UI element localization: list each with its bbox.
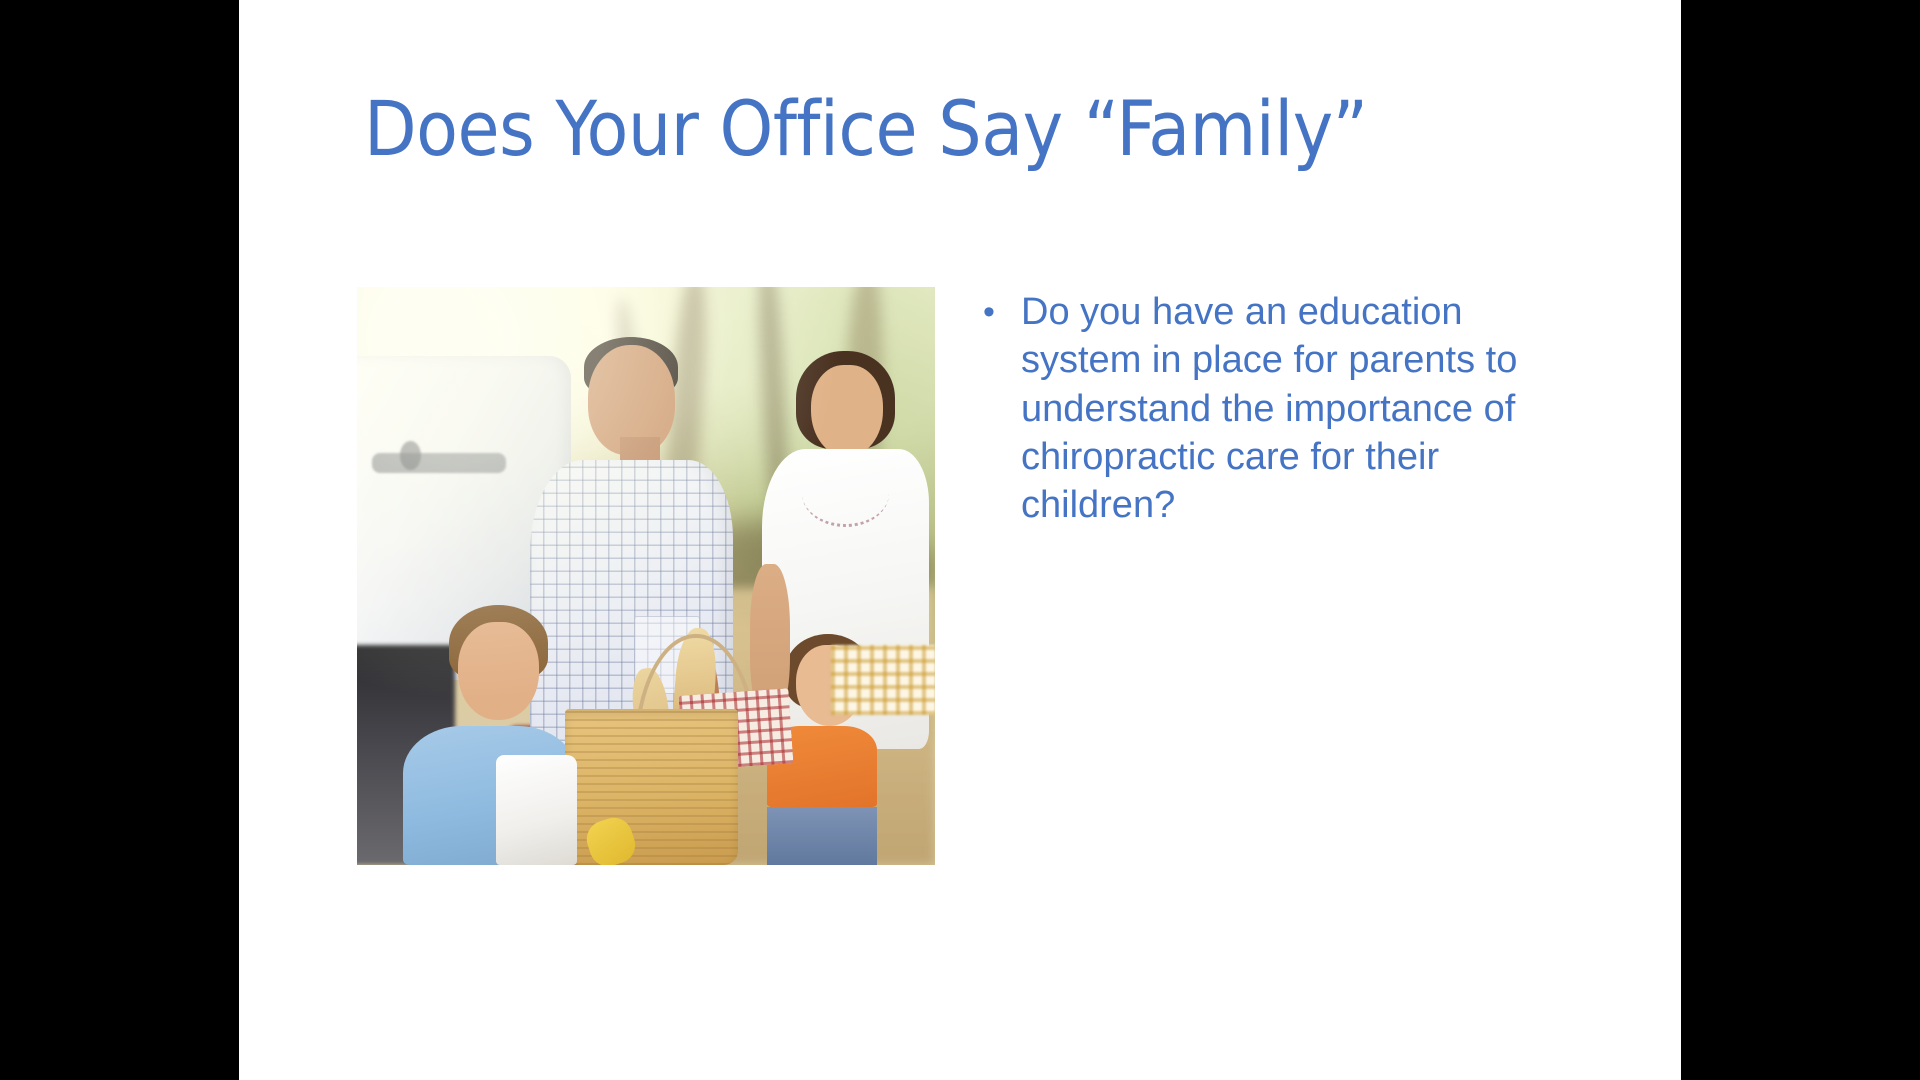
slide-canvas: Does Your Office Say “Family” bbox=[239, 0, 1681, 1080]
letterbox-right bbox=[1681, 0, 1920, 1080]
bullet-icon: • bbox=[979, 288, 1021, 336]
slide-viewport: Does Your Office Say “Family” bbox=[0, 0, 1920, 1080]
body-text-block: • Do you have an education system in pla… bbox=[979, 288, 1579, 529]
mother-neckline bbox=[802, 460, 889, 527]
page-title: Does Your Office Say “Family” bbox=[364, 86, 1564, 171]
photo-background bbox=[357, 287, 935, 865]
boy-head bbox=[458, 622, 539, 720]
list-item: • Do you have an education system in pla… bbox=[979, 288, 1579, 529]
white-bag bbox=[496, 755, 577, 865]
bullet-text: Do you have an education system in place… bbox=[1021, 288, 1579, 529]
girl-jeans bbox=[767, 807, 877, 865]
tablecloth bbox=[831, 645, 935, 714]
mother-head bbox=[811, 365, 883, 457]
letterbox-left bbox=[0, 0, 239, 1080]
family-photo bbox=[357, 287, 935, 865]
